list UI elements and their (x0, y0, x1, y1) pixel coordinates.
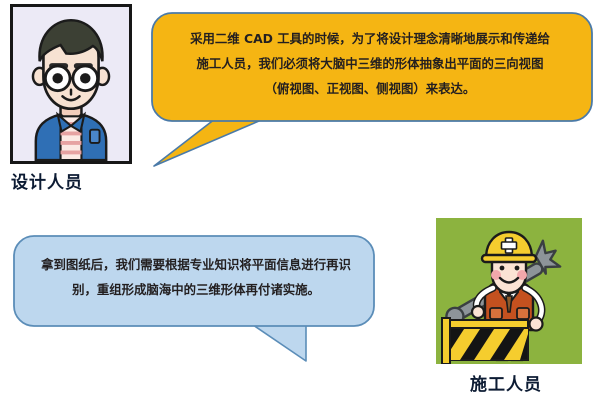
worker-speech-bubble: 拿到图纸后，我们需要根据专业知识将平面信息进行再识 别，重组形成脑海中的三维形体… (6, 230, 466, 370)
designer-bubble-line-3: （俯视图、正视图、侧视图）来表达。 (162, 76, 578, 101)
designer-bubble-text: 采用二维 CAD 工具的时候，为了将设计理念清晰地展示和传递给 施工人员，我们必… (162, 26, 578, 101)
designer-avatar-image (10, 4, 132, 164)
worker-bubble-line-1: 拿到图纸后，我们需要根据专业知识将平面信息进行再识 (26, 252, 366, 277)
worker-bubble-line-2: 别，重组形成脑海中的三维形体再付诸实施。 (26, 277, 366, 302)
designer-caption: 设计人员 (11, 168, 83, 193)
designer-speech-bubble: 采用二维 CAD 工具的时候，为了将设计理念清晰地展示和传递给 施工人员，我们必… (140, 6, 600, 176)
designer-bubble-line-2: 施工人员，我们必须将大脑中三维的形体抽象出平面的三向视图 (162, 51, 578, 76)
slide-canvas: 设计人员 (0, 0, 600, 404)
designer-avatar-icon (13, 7, 129, 161)
worker-caption: 施工人员 (470, 370, 542, 395)
designer-bubble-line-1: 采用二维 CAD 工具的时候，为了将设计理念清晰地展示和传递给 (162, 26, 578, 51)
worker-bubble-text: 拿到图纸后，我们需要根据专业知识将平面信息进行再识 别，重组形成脑海中的三维形体… (26, 252, 366, 302)
